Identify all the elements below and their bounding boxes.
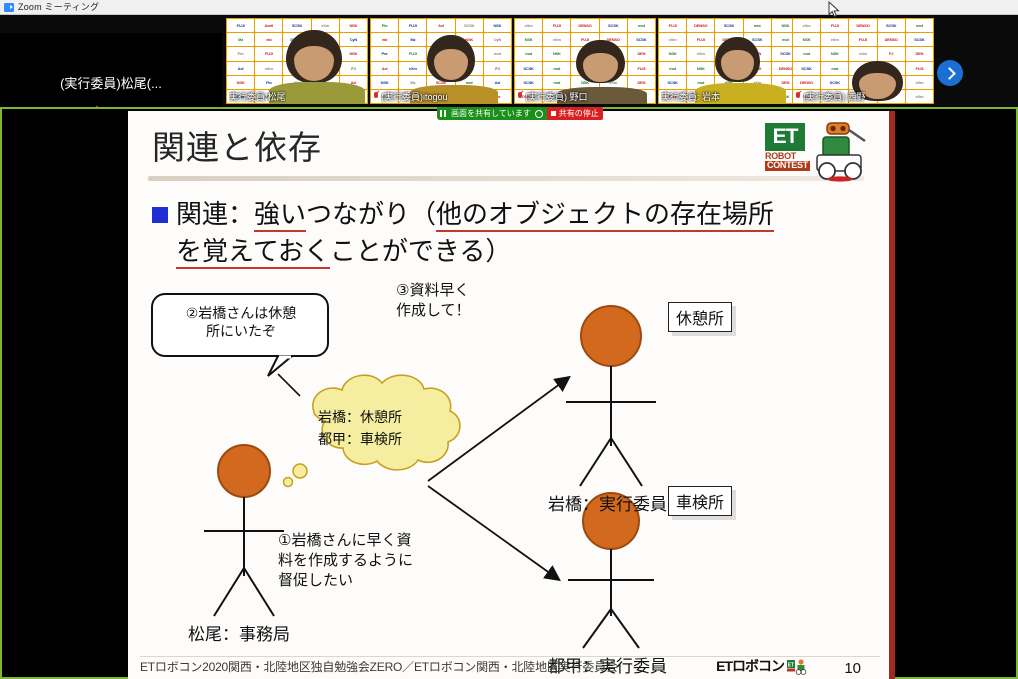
slide-page-number: 10 <box>844 660 861 677</box>
title-divider <box>148 176 864 181</box>
slide-bullet-text: 関連：強いつながり（他のオブジェクトの存在場所を覚えておくことができる） <box>176 196 774 270</box>
pause-icon[interactable] <box>440 110 447 117</box>
thought-cloud-line-1: 岩橋：休憩所 <box>318 408 402 427</box>
stop-square-icon <box>551 111 556 116</box>
slide-title: 関連と依存 <box>152 121 322 169</box>
participant-head <box>427 35 475 81</box>
shared-screen-area: 関連と依存 ET ROBOT CONTEST <box>0 107 1018 679</box>
actor-matsuo <box>204 445 284 616</box>
participant-tile-4[interactable]: eXmFUJIDENSOSCSKmot NSKeXmFUJIDENSOSCSK … <box>792 18 934 104</box>
self-name-label: (実行委員)松尾(... <box>0 73 222 92</box>
slide-bullet: 関連：強いつながり（他のオブジェクトの存在場所を覚えておくことができる） <box>152 196 882 270</box>
filmstrip-next-button[interactable] <box>937 60 963 86</box>
speech-bubble-text: ②岩橋さんは休憩 所にいたぞ <box>162 304 320 340</box>
mic-muted-icon <box>517 92 523 101</box>
participant-head <box>576 40 624 83</box>
actor-left-note: ①岩橋さんに早く資 料を作成するように 督促したい <box>278 531 413 590</box>
robot-mascot-icon: ET <box>787 658 807 675</box>
zoom-camera-icon <box>4 3 14 12</box>
participant-name-bar: 実行委員:松尾 <box>226 89 368 104</box>
actor-left-label: 松尾：事務局 <box>188 624 290 646</box>
slide-diagram: ②岩橋さんは休憩 所にいたぞ 岩橋：休憩所 都甲：車検所 ③資料早く 作成して！… <box>128 286 895 636</box>
mouse-pointer-icon <box>828 1 840 18</box>
mic-muted-icon <box>795 92 801 101</box>
participant-filmstrip[interactable]: (実行委員)松尾(... FUJIAxellSCSKeXmNSK MzebiDE… <box>0 15 1018 107</box>
participant-name: (実行委員) 西野 <box>803 90 866 103</box>
participant-tile-1[interactable]: PioFUJIAxlSCSKNSK ebiMzeXmNSKCyN PnrFUJI… <box>370 18 512 104</box>
participant-name-bar: 実行委員: 岩本 <box>658 89 800 104</box>
participant-name-bar: (実行委員)itogou <box>370 89 512 104</box>
participant-name: (実行委員)itogou <box>381 90 448 103</box>
mic-muted-icon <box>373 92 379 101</box>
place-box-kyukeijo: 休憩所 <box>668 302 732 332</box>
participant-tile-3[interactable]: FUJIDENSOSCSKmotNSK eXmFUJIDENSOSCSKmot … <box>658 18 800 104</box>
participant-name: (実行委員) 野口 <box>525 90 588 103</box>
participant-head <box>286 30 343 83</box>
gear-icon[interactable] <box>535 110 543 118</box>
title-bar: Zoom ミーティング <box>0 0 1018 15</box>
zoom-window: Zoom ミーティング (実行委員)松尾(... FUJIAxellSCSKeX… <box>0 0 1018 679</box>
place-box-shakenjo: 車検所 <box>668 486 732 516</box>
stop-share-label: 共有の停止 <box>559 108 599 119</box>
participant-name: 実行委員:松尾 <box>229 90 286 103</box>
footer-text: ETロボコン2020関西・北陸地区独自勉強会ZERO／ETロボコン関西・北陸地区… <box>140 658 618 675</box>
share-status-text: 画面を共有しています <box>451 108 531 119</box>
participant-head <box>715 37 760 82</box>
robot-mascot-icon <box>765 119 873 185</box>
actor-iwahashi <box>566 306 656 486</box>
svg-text:ET: ET <box>788 662 794 668</box>
request-text: ③資料早く 作成して！ <box>396 281 471 321</box>
participant-name: 実行委員: 岩本 <box>661 90 720 103</box>
et-robot-contest-logo: ET ROBOT CONTEST <box>765 119 873 185</box>
screen-share-bar[interactable]: 画面を共有しています 共有の停止 <box>437 107 601 120</box>
footer-logo-text: ETロボコン <box>716 656 784 676</box>
chevron-right-icon <box>943 67 956 80</box>
participant-name-bar: (実行委員) 西野 <box>792 89 934 104</box>
stop-share-button[interactable]: 共有の停止 <box>547 107 603 120</box>
arrow-to-toko <box>428 486 558 579</box>
window-title: Zoom ミーティング <box>18 3 99 12</box>
actor-top-label: 岩橋：実行委員 <box>548 494 667 516</box>
thought-cloud-line-2: 都甲：車検所 <box>318 430 402 449</box>
square-bullet-icon <box>152 207 168 223</box>
footer-logo: ETロボコン ET <box>716 656 807 676</box>
participant-name-bar: (実行委員) 野口 <box>514 89 656 104</box>
participant-tile-2[interactable]: eXmFUJIDENSOSCSKmot NSKeXmFUJIDENSOSCSK … <box>514 18 656 104</box>
participant-tile-0[interactable]: FUJIAxellSCSKeXmNSK MzebiDENSOPioCyN Pnr… <box>226 18 368 104</box>
presentation-slide: 関連と依存 ET ROBOT CONTEST <box>128 111 895 679</box>
